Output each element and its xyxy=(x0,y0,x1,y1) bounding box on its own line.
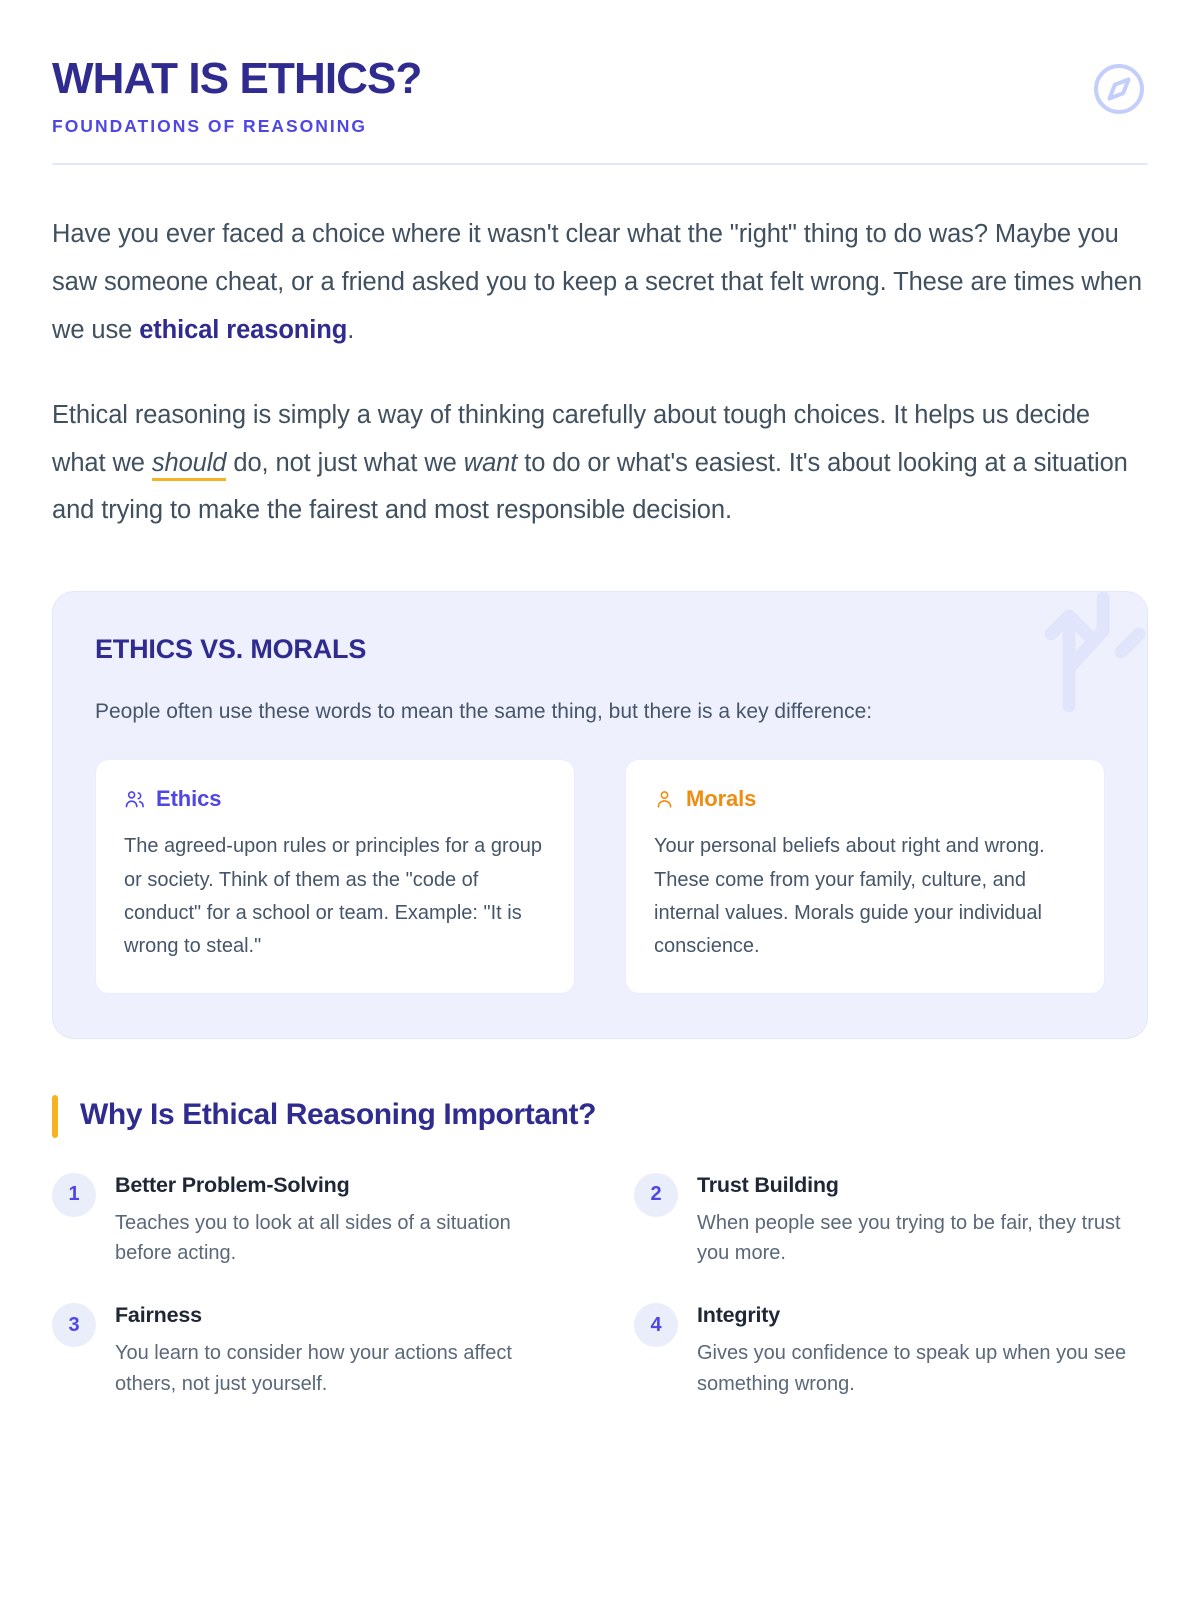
term-header-morals: Morals xyxy=(654,786,1076,812)
term-name-morals: Morals xyxy=(686,786,756,812)
intro-paragraph-2: Ethical reasoning is simply a way of thi… xyxy=(52,392,1148,536)
benefit-number-badge: 2 xyxy=(634,1173,678,1217)
benefit-item: 2 Trust Building When people see you try… xyxy=(634,1172,1148,1269)
header-text-block: WHAT IS ETHICS? FOUNDATIONS OF REASONING xyxy=(52,52,421,137)
benefit-number-badge: 3 xyxy=(52,1303,96,1347)
emphasis-want: want xyxy=(464,449,517,477)
page-title: WHAT IS ETHICS? xyxy=(52,56,421,102)
benefit-text-block: Integrity Gives you confidence to speak … xyxy=(697,1302,1148,1399)
term-body-morals: Your personal beliefs about right and wr… xyxy=(654,830,1076,963)
benefit-title: Trust Building xyxy=(697,1173,1148,1199)
term-body-ethics: The agreed-upon rules or principles for … xyxy=(124,830,546,963)
term-card-morals: Morals Your personal beliefs about right… xyxy=(625,759,1105,994)
importance-section: Why Is Ethical Reasoning Important? 1 Be… xyxy=(52,1095,1148,1399)
benefit-text-block: Fairness You learn to consider how your … xyxy=(115,1302,566,1399)
compare-card-title: ETHICS VS. MORALS xyxy=(95,634,1105,665)
ethical-reasoning-highlight: ethical reasoning xyxy=(139,316,347,344)
intro-p1-part2: . xyxy=(347,316,354,344)
benefit-description: Teaches you to look at all sides of a si… xyxy=(115,1208,566,1269)
worksheet-page: WHAT IS ETHICS? FOUNDATIONS OF REASONING… xyxy=(0,0,1200,1600)
benefit-text-block: Trust Building When people see you tryin… xyxy=(697,1172,1148,1269)
benefit-text-block: Better Problem-Solving Teaches you to lo… xyxy=(115,1172,566,1269)
benefit-title: Fairness xyxy=(115,1303,566,1329)
header-divider xyxy=(52,163,1148,165)
term-header-ethics: Ethics xyxy=(124,786,546,812)
section-accent-bar xyxy=(52,1095,58,1138)
compass-icon xyxy=(1090,60,1148,118)
compare-term-grid: Ethics The agreed-upon rules or principl… xyxy=(95,759,1105,994)
benefit-title: Integrity xyxy=(697,1303,1148,1329)
benefit-description: Gives you confidence to speak up when yo… xyxy=(697,1338,1148,1399)
users-icon xyxy=(124,789,145,810)
intro-p2-part2: do, not just what we xyxy=(226,449,463,477)
term-name-ethics: Ethics xyxy=(156,786,221,812)
intro-paragraph-1: Have you ever faced a choice where it wa… xyxy=(52,211,1148,355)
compare-card-lede: People often use these words to mean the… xyxy=(95,695,995,729)
benefit-title: Better Problem-Solving xyxy=(115,1173,566,1199)
benefit-item: 4 Integrity Gives you confidence to spea… xyxy=(634,1302,1148,1399)
benefit-description: You learn to consider how your actions a… xyxy=(115,1338,566,1399)
benefit-number-badge: 1 xyxy=(52,1173,96,1217)
importance-heading-text: Why Is Ethical Reasoning Important? xyxy=(80,1095,596,1138)
intro-section: Have you ever faced a choice where it wa… xyxy=(52,211,1148,536)
page-subtitle: FOUNDATIONS OF REASONING xyxy=(52,116,421,137)
benefit-item: 1 Better Problem-Solving Teaches you to … xyxy=(52,1172,566,1269)
benefit-description: When people see you trying to be fair, t… xyxy=(697,1208,1148,1269)
benefit-grid: 1 Better Problem-Solving Teaches you to … xyxy=(52,1172,1148,1399)
emphasis-should: should xyxy=(152,449,227,481)
page-header: WHAT IS ETHICS? FOUNDATIONS OF REASONING xyxy=(52,52,1148,163)
benefit-number-badge: 4 xyxy=(634,1303,678,1347)
term-card-ethics: Ethics The agreed-upon rules or principl… xyxy=(95,759,575,994)
ethics-vs-morals-card: ETHICS VS. MORALS People often use these… xyxy=(52,591,1148,1039)
user-icon xyxy=(654,789,675,810)
benefit-item: 3 Fairness You learn to consider how you… xyxy=(52,1302,566,1399)
importance-heading: Why Is Ethical Reasoning Important? xyxy=(52,1095,1148,1138)
